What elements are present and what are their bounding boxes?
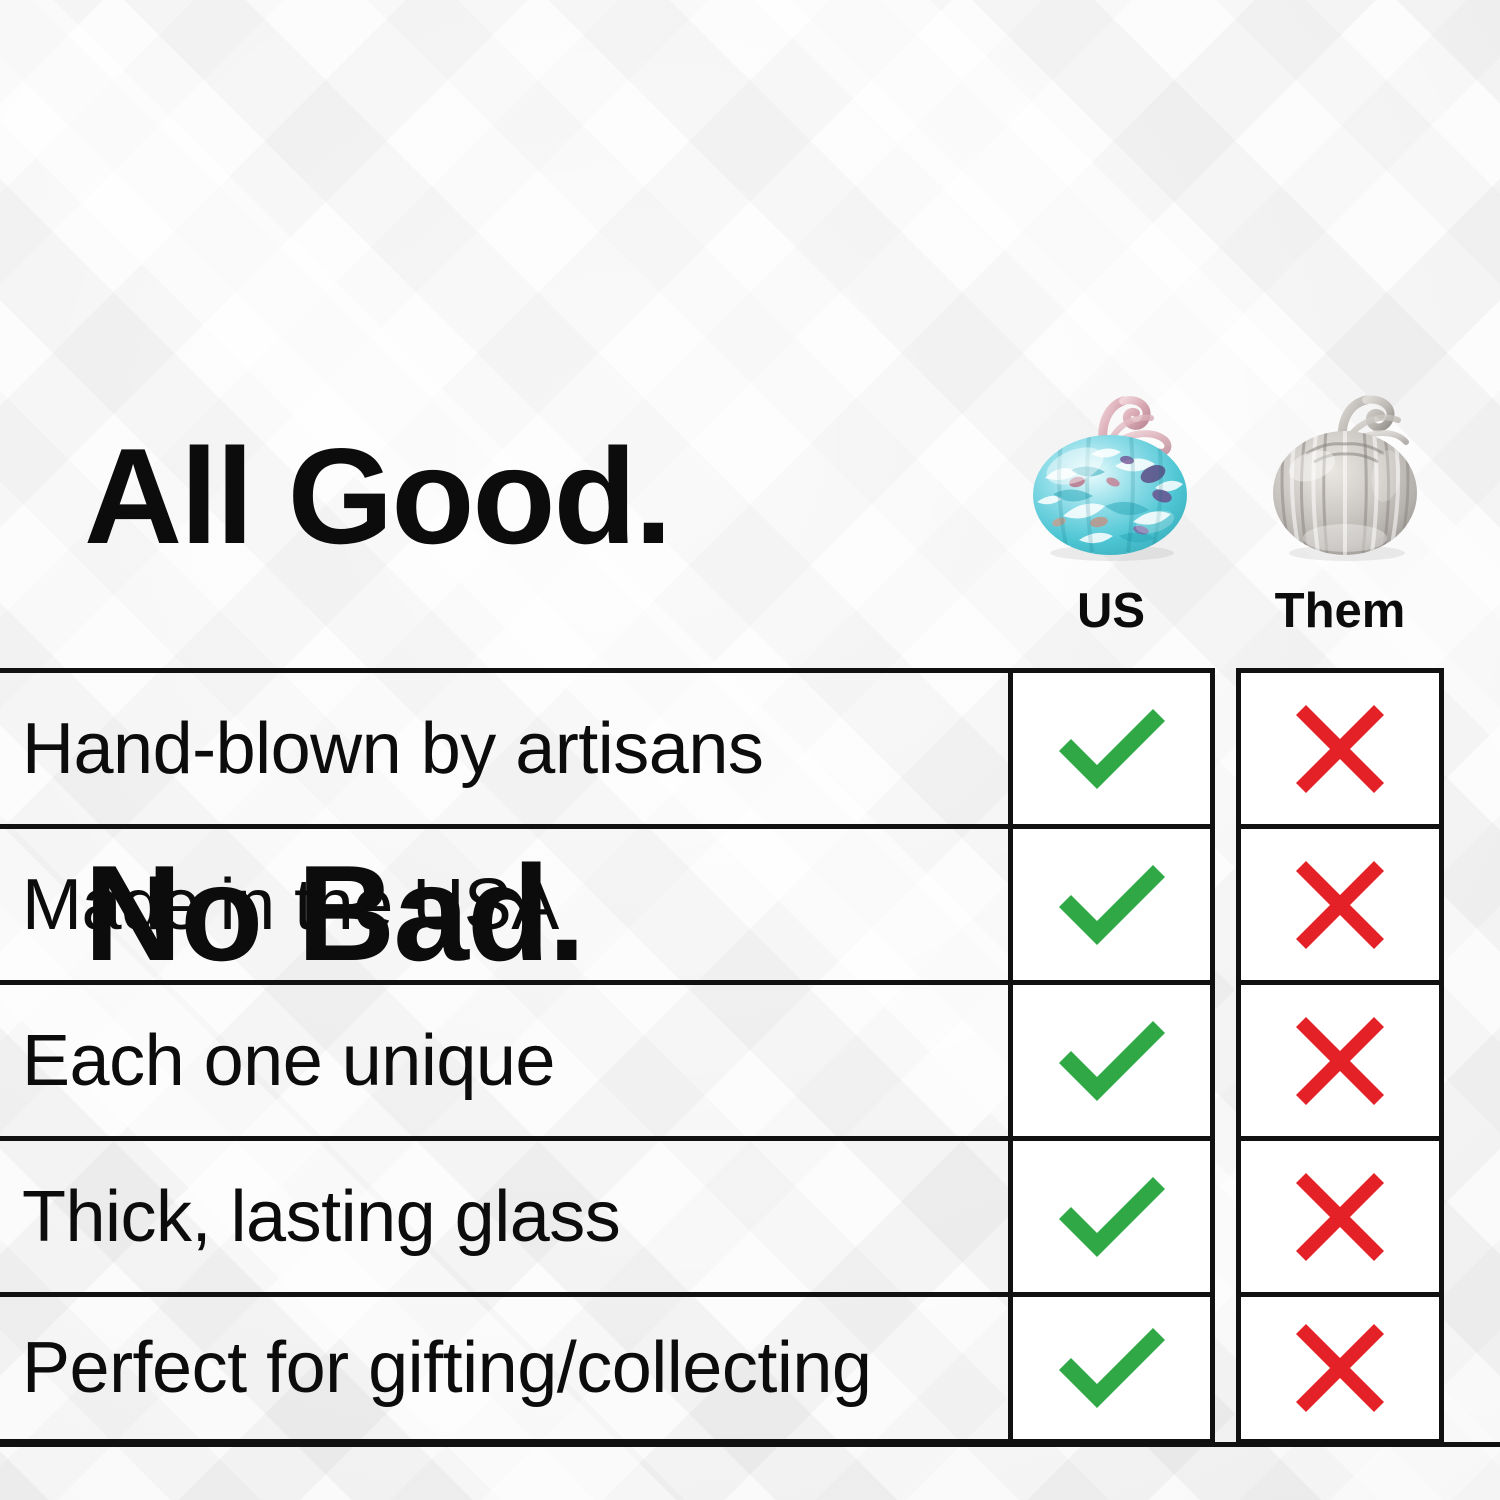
feature-label: Hand-blown by artisans: [0, 708, 763, 790]
us-mark-cell: [1008, 824, 1215, 980]
them-mark-cell: [1236, 824, 1444, 980]
column-header-us: US: [1008, 583, 1214, 639]
check-mark-icon: [1051, 1013, 1173, 1109]
us-mark-cell: [1008, 1292, 1215, 1444]
product-comparison-images: [1005, 370, 1445, 570]
us-mark-cell: [1008, 1136, 1215, 1292]
infographic-canvas: All Good. No Bad.: [0, 0, 1500, 1500]
table-row: Hand-blown by artisans: [0, 668, 1500, 824]
table-row: Perfect for gifting/collecting: [0, 1292, 1500, 1444]
feature-label: Thick, lasting glass: [0, 1176, 620, 1258]
feature-label: Each one unique: [0, 1020, 555, 1102]
check-mark-icon: [1051, 1169, 1173, 1265]
cross-mark-icon: [1290, 855, 1390, 955]
cross-mark-icon: [1290, 1011, 1390, 1111]
them-mark-cell: [1236, 668, 1444, 824]
check-mark-icon: [1051, 701, 1173, 797]
us-mark-cell: [1008, 668, 1215, 824]
feature-label: Perfect for gifting/collecting: [0, 1327, 871, 1409]
table-row: Thick, lasting glass: [0, 1136, 1500, 1292]
table-bottom-rule: [0, 1442, 1500, 1447]
feature-cell: Each one unique: [0, 980, 1008, 1136]
feature-label: Made in the USA: [0, 864, 559, 946]
check-mark-icon: [1051, 1320, 1173, 1416]
feature-cell: Made in the USA: [0, 824, 1008, 980]
table-row: Each one unique: [0, 980, 1500, 1136]
column-header-them: Them: [1236, 583, 1444, 639]
them-mark-cell: [1236, 980, 1444, 1136]
cross-mark-icon: [1290, 699, 1390, 799]
them-mark-cell: [1236, 1292, 1444, 1444]
comparison-table: Hand-blown by artisans Made in the USA: [0, 668, 1500, 1446]
us-product-image: [1015, 370, 1205, 565]
cross-mark-icon: [1290, 1318, 1390, 1418]
them-mark-cell: [1236, 1136, 1444, 1292]
us-mark-cell: [1008, 980, 1215, 1136]
feature-cell: Thick, lasting glass: [0, 1136, 1008, 1292]
feature-cell: Hand-blown by artisans: [0, 668, 1008, 824]
check-mark-icon: [1051, 857, 1173, 953]
table-row: Made in the USA: [0, 824, 1500, 980]
cross-mark-icon: [1290, 1167, 1390, 1267]
headline-line-1: All Good.: [84, 427, 670, 566]
them-product-image: [1250, 370, 1440, 565]
feature-cell: Perfect for gifting/collecting: [0, 1292, 1008, 1444]
